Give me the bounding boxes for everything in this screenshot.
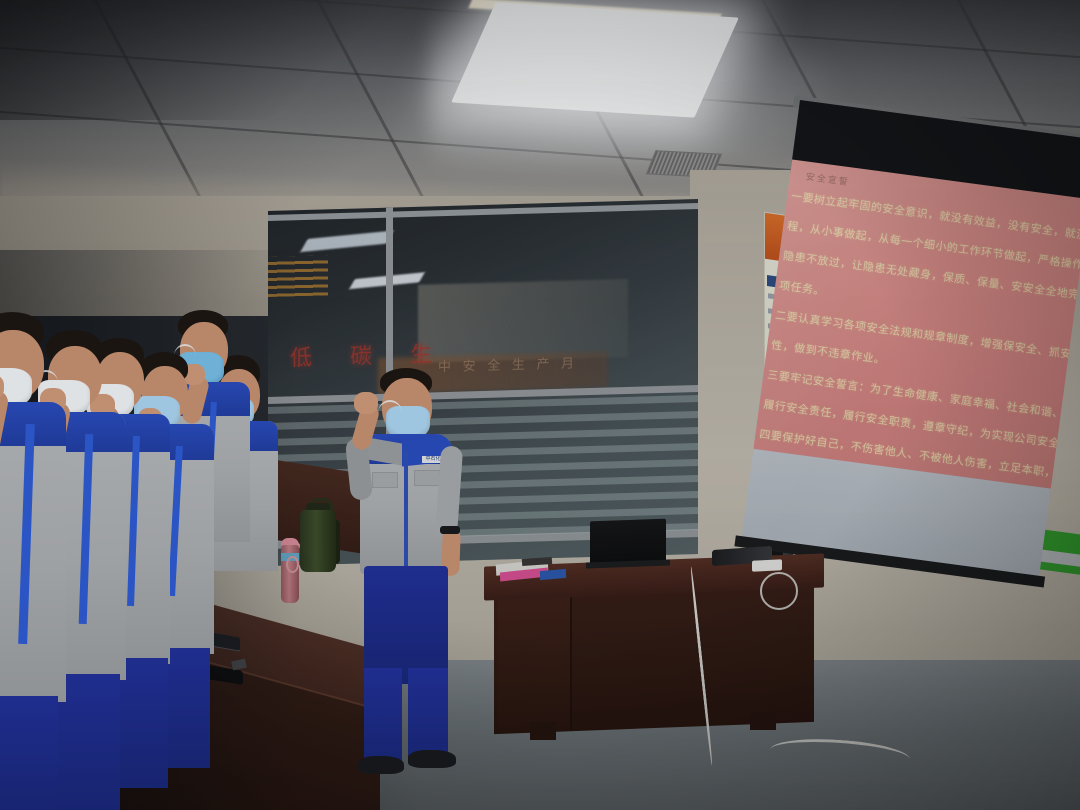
exterior-plastic-sheet: [418, 279, 628, 363]
exterior-red-sign: 低 碳 生: [290, 336, 448, 372]
exterior-lamp-reflection: [300, 230, 394, 252]
projection-screen[interactable]: 安全宣誓 一要树立起牢固的安全意识，就没有效益，没有安全，就没有稳定，严格操作规…: [738, 100, 1080, 606]
wristwatch: [440, 526, 460, 534]
green-water-jug[interactable]: [300, 510, 336, 572]
thermos-loop: [286, 556, 299, 573]
exterior-faint-sign: 中 安 全 生 产 月: [438, 352, 578, 375]
shoe-right: [408, 750, 456, 768]
coiled-cable: [760, 572, 798, 610]
desk-pedestal: [498, 591, 572, 734]
shoe-left: [358, 756, 404, 774]
power-adapter: [752, 559, 782, 572]
window-exterior-shelving: [268, 255, 328, 297]
meeting-room-photo: 低 碳 生 中 安 全 生 产 月: [0, 0, 1080, 810]
desk-foot-2: [750, 712, 776, 730]
screen-sheen: [740, 159, 1080, 585]
ceiling-light-panel: [451, 2, 739, 117]
desk-foot: [530, 722, 556, 740]
ceiling-shadow: [0, 0, 430, 120]
